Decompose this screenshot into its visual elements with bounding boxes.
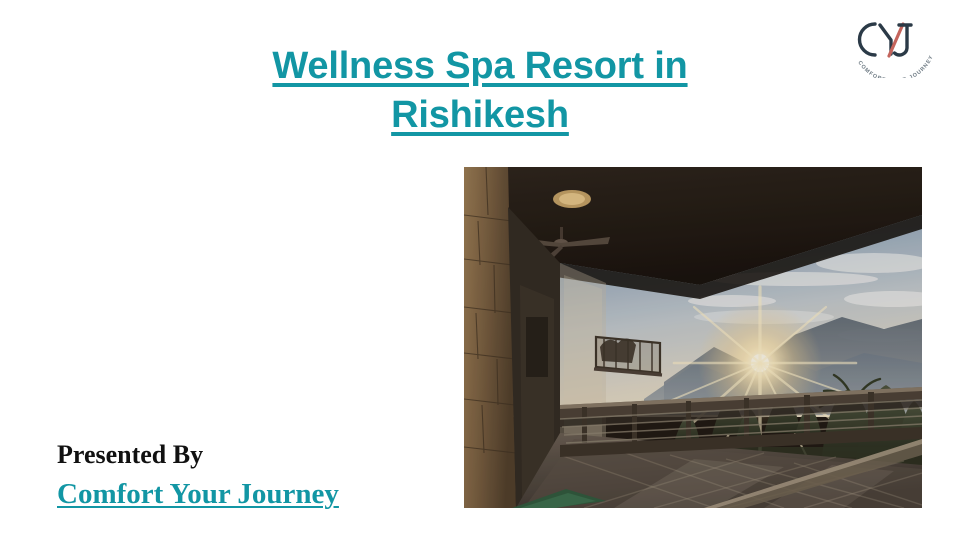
presenter-block: Presented By Comfort Your Journey [57, 440, 417, 511]
page-title-text[interactable]: Wellness Spa Resort in Rishikesh [150, 42, 810, 141]
cyj-logo[interactable]: COMFORT YOUR JOURNEY [841, 12, 947, 78]
page-title: Wellness Spa Resort in Rishikesh [150, 42, 810, 141]
presented-by-label: Presented By [57, 440, 417, 471]
logo-letter-y-shape [880, 25, 891, 54]
presenter-link[interactable]: Comfort Your Journey [57, 477, 339, 511]
logo-tagline-text: COMFORT YOUR JOURNEY [856, 54, 935, 78]
resort-balcony-photo [464, 167, 922, 508]
logo-letter-c-shape [860, 24, 876, 55]
slide-canvas: COMFORT YOUR JOURNEY Wellness Spa Resort… [0, 0, 960, 540]
